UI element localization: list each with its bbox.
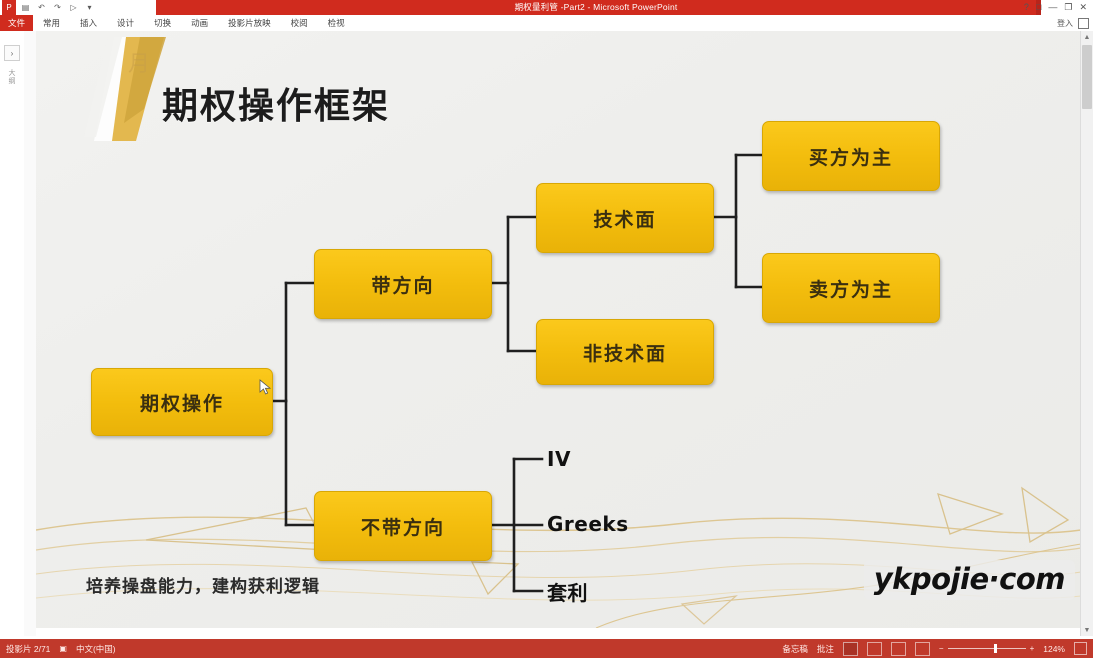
ribbon-right-group: 登入 bbox=[1057, 15, 1089, 31]
restore-icon[interactable]: ❐ bbox=[1064, 0, 1072, 15]
zoom-out-icon[interactable]: − bbox=[939, 644, 944, 653]
customize-qat-icon[interactable]: ▾ bbox=[83, 1, 96, 14]
mouse-cursor-icon bbox=[258, 379, 276, 397]
comments-button[interactable]: 批注 bbox=[817, 643, 834, 655]
help-icon[interactable]: ? bbox=[1024, 0, 1029, 15]
theme-icon[interactable]: ▣ bbox=[59, 644, 67, 653]
tab-review[interactable]: 校阅 bbox=[281, 15, 318, 31]
leaf-arbitrage[interactable]: 套利 bbox=[547, 577, 588, 606]
ribbon-tabs: 文件 常用 插入 设计 切换 动画 投影片放映 校阅 检视 bbox=[0, 15, 355, 31]
tab-slideshow[interactable]: 投影片放映 bbox=[218, 15, 281, 31]
tab-animations[interactable]: 动画 bbox=[181, 15, 218, 31]
slide-sorter-view-button[interactable] bbox=[867, 642, 882, 656]
tab-view[interactable]: 检视 bbox=[318, 15, 355, 31]
leaf-greeks[interactable]: Greeks bbox=[547, 512, 629, 536]
powerpoint-window: 期权量利管 -Part2 - Microsoft PowerPoint P ▤ … bbox=[0, 0, 1093, 658]
redo-icon[interactable]: ↷ bbox=[51, 1, 64, 14]
notes-button[interactable]: 备忘稿 bbox=[782, 643, 808, 655]
tab-insert[interactable]: 插入 bbox=[70, 15, 107, 31]
zoom-slider[interactable]: − + bbox=[939, 644, 1034, 653]
slide-stage: 月 bbox=[36, 31, 1081, 636]
status-left-group: 投影片 2/71 ▣ 中文(中国) bbox=[0, 643, 116, 655]
scrollbar-thumb[interactable] bbox=[1082, 45, 1092, 109]
reading-view-button[interactable] bbox=[891, 642, 906, 656]
zoom-in-icon[interactable]: + bbox=[1030, 644, 1035, 653]
document-title: 期权量利管 -Part2 - Microsoft PowerPoint bbox=[156, 0, 1036, 15]
node-buyer[interactable]: 买方为主 bbox=[762, 121, 940, 191]
slide-canvas[interactable]: 月 bbox=[36, 31, 1081, 628]
left-rail: › 大纲 bbox=[0, 31, 25, 636]
ribbon-tab-strip: 文件 常用 插入 设计 切换 动画 投影片放映 校阅 检视 登入 bbox=[0, 15, 1093, 32]
save-icon[interactable]: ▤ bbox=[19, 1, 32, 14]
tab-transitions[interactable]: 切换 bbox=[144, 15, 181, 31]
title-bar: 期权量利管 -Part2 - Microsoft PowerPoint P ▤ … bbox=[0, 0, 1093, 15]
ribbon-display-options-icon[interactable]: □ bbox=[1036, 0, 1041, 15]
undo-icon[interactable]: ↶ bbox=[35, 1, 48, 14]
slideshow-view-button[interactable] bbox=[915, 642, 930, 656]
node-seller[interactable]: 卖方为主 bbox=[762, 253, 940, 323]
node-nontechnical[interactable]: 非技术面 bbox=[536, 319, 714, 385]
quick-access-toolbar: P ▤ ↶ ↷ ▷ ▾ bbox=[0, 0, 96, 15]
zoom-track[interactable] bbox=[948, 648, 1026, 649]
expand-pane-icon[interactable]: › bbox=[4, 45, 20, 61]
slide-tagline: 培养操盘能力，建构获利逻辑 bbox=[86, 572, 320, 597]
slide-title: 期权操作框架 bbox=[162, 77, 390, 129]
account-icon[interactable] bbox=[1078, 18, 1089, 29]
node-root[interactable]: 期权操作 bbox=[91, 368, 273, 436]
office-logo-icon[interactable]: P bbox=[2, 0, 16, 15]
node-technical[interactable]: 技术面 bbox=[536, 183, 714, 253]
window-controls: ? □ — ❐ ✕ bbox=[1024, 0, 1091, 15]
status-right-group: 备忘稿 批注 − + 124% bbox=[782, 642, 1093, 656]
slideshow-icon[interactable]: ▷ bbox=[67, 1, 80, 14]
vertical-scrollbar[interactable]: ▲ ▼ bbox=[1080, 31, 1093, 636]
scroll-up-icon[interactable]: ▲ bbox=[1081, 31, 1093, 43]
scroll-down-icon[interactable]: ▼ bbox=[1081, 624, 1093, 636]
fit-to-window-button[interactable] bbox=[1074, 642, 1087, 655]
tab-file[interactable]: 文件 bbox=[0, 15, 33, 31]
normal-view-button[interactable] bbox=[843, 642, 858, 656]
zoom-knob[interactable] bbox=[994, 644, 997, 653]
close-icon[interactable]: ✕ bbox=[1079, 0, 1087, 15]
site-watermark: ykpojie·com bbox=[864, 560, 1075, 600]
outline-pane-label[interactable]: 大纲 bbox=[5, 69, 17, 85]
signin-label[interactable]: 登入 bbox=[1057, 18, 1073, 29]
node-nondirectional[interactable]: 不带方向 bbox=[314, 491, 492, 561]
language-indicator[interactable]: 中文(中国) bbox=[76, 643, 116, 655]
node-directional[interactable]: 带方向 bbox=[314, 249, 492, 319]
leaf-iv[interactable]: IV bbox=[547, 447, 571, 471]
status-bar: 投影片 2/71 ▣ 中文(中国) 备忘稿 批注 − + 124% bbox=[0, 639, 1093, 658]
slide-counter: 投影片 2/71 bbox=[6, 643, 50, 655]
zoom-level[interactable]: 124% bbox=[1043, 644, 1065, 654]
tab-design[interactable]: 设计 bbox=[107, 15, 144, 31]
minimize-icon[interactable]: — bbox=[1048, 0, 1057, 15]
tab-home[interactable]: 常用 bbox=[33, 15, 70, 31]
